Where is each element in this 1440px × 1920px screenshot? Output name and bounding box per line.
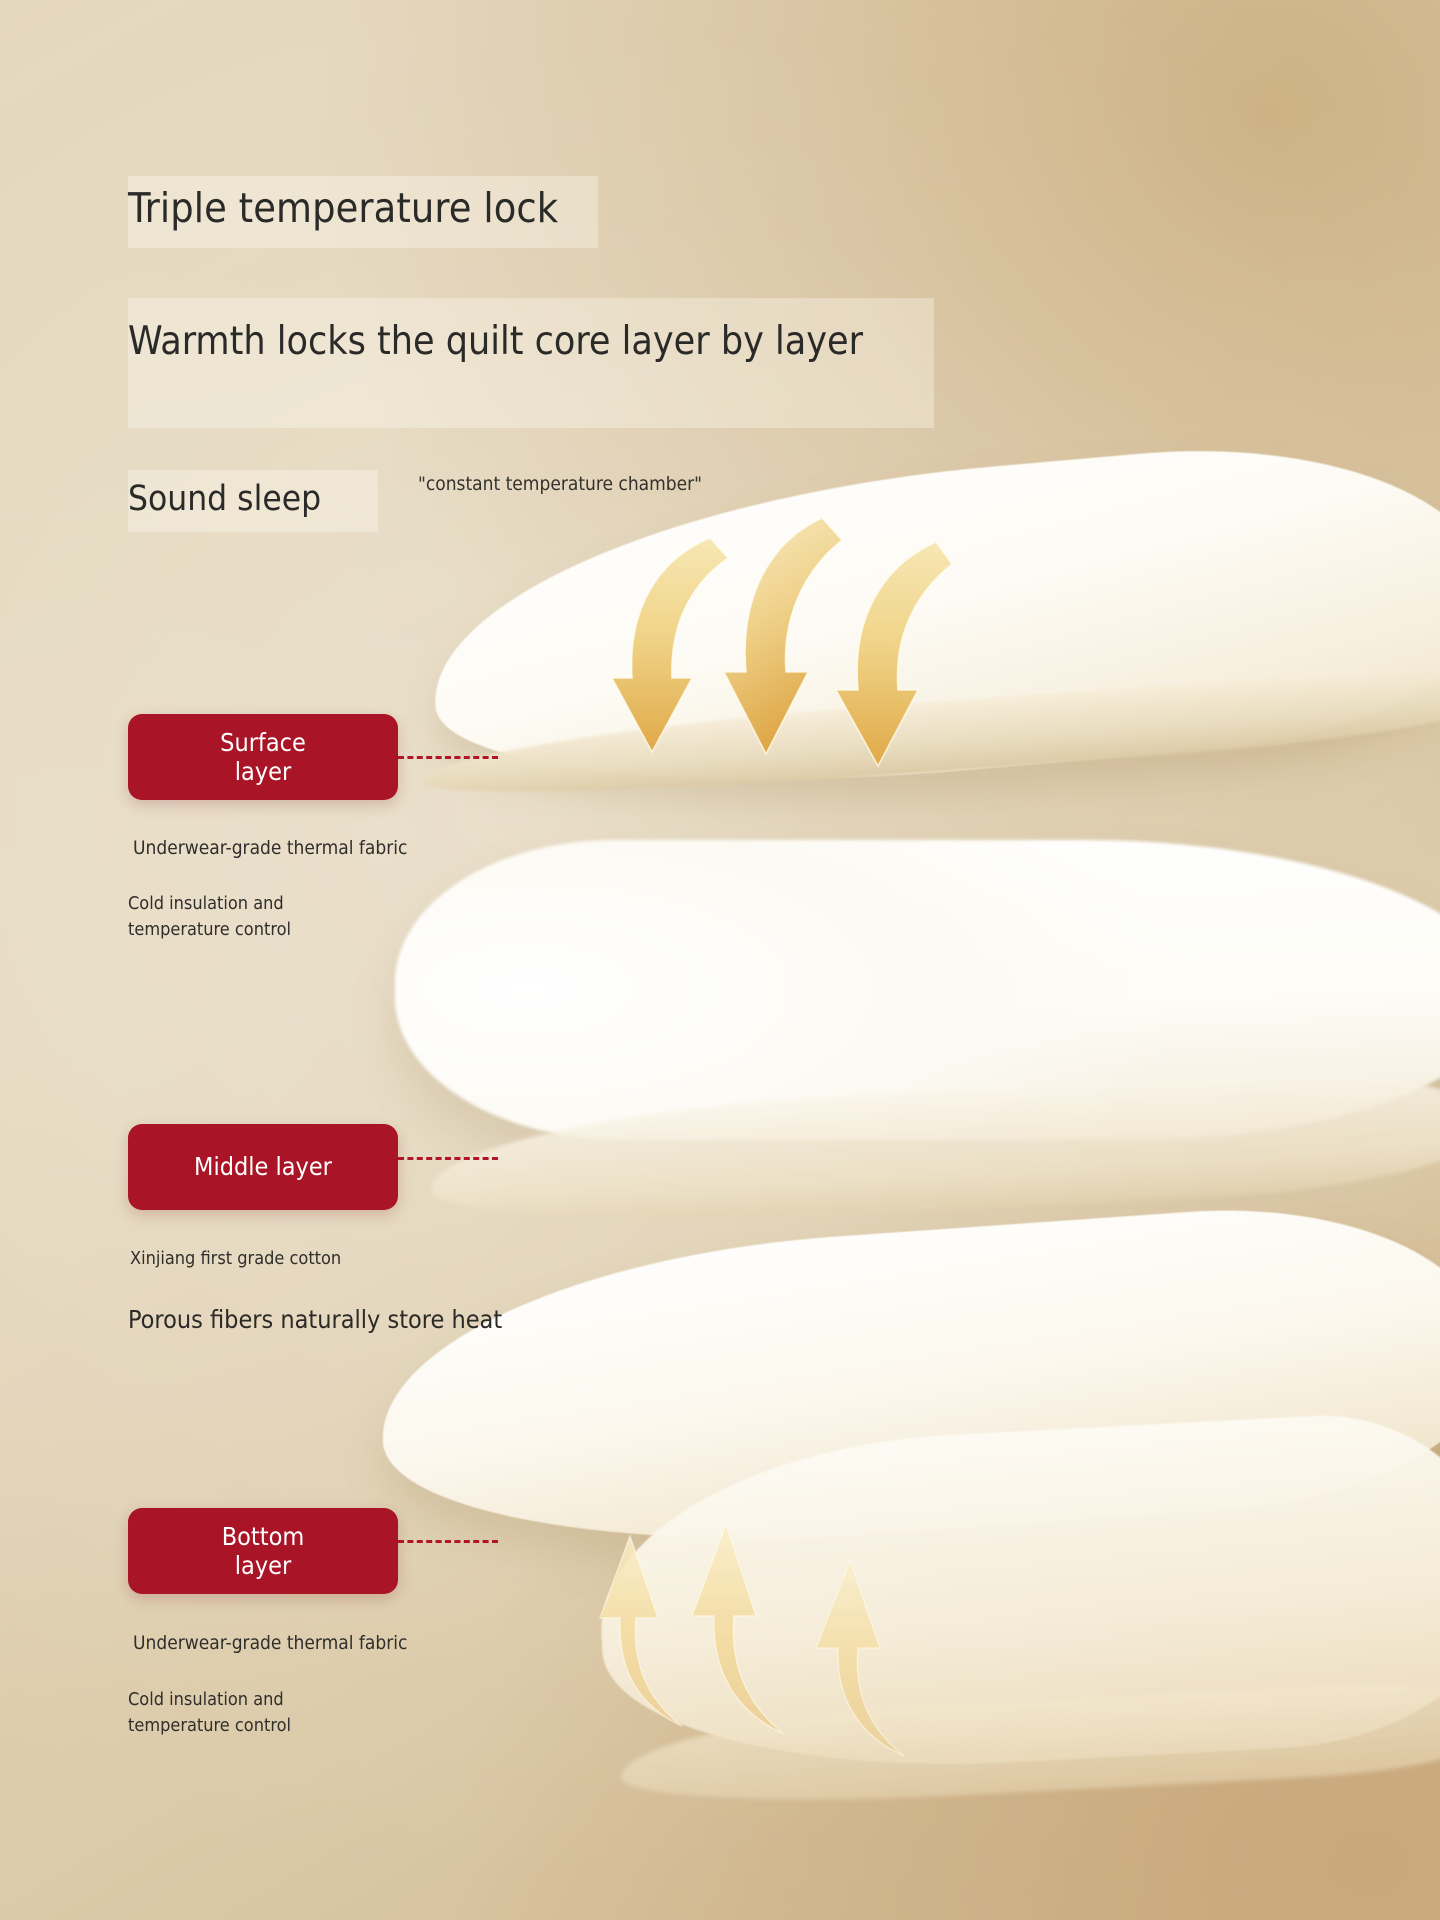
badge-surface-layer-label: Surfacelayer	[220, 728, 306, 787]
bottom-layer-material: Underwear-grade thermal fabric	[133, 1631, 407, 1657]
connector-surface-layer	[398, 756, 498, 759]
middle-layer-benefit: Porous fibers naturally store heat	[128, 1304, 502, 1337]
badge-middle-layer[interactable]: Middle layer	[128, 1124, 398, 1210]
badge-bottom-layer-label: Bottomlayer	[222, 1522, 304, 1581]
page-title: Triple temperature lock	[128, 184, 688, 234]
tagline-note: "constant temperature chamber"	[418, 472, 718, 498]
middle-layer-material: Xinjiang first grade cotton	[130, 1247, 341, 1270]
bottom-layer-benefit-line2: temperature control	[128, 1714, 291, 1737]
tagline: Sound sleep	[128, 478, 321, 520]
bottom-layer-benefit-line1: Cold insulation and	[128, 1688, 284, 1711]
connector-middle-layer	[398, 1157, 498, 1160]
page-subtitle: Warmth locks the quilt core layer by lay…	[128, 318, 958, 366]
badge-middle-layer-label: Middle layer	[194, 1152, 332, 1182]
surface-layer-benefit-line1: Cold insulation and	[128, 892, 284, 915]
surface-layer-benefit-line2: temperature control	[128, 918, 291, 941]
badge-bottom-layer[interactable]: Bottomlayer	[128, 1508, 398, 1594]
badge-surface-layer[interactable]: Surfacelayer	[128, 714, 398, 800]
infographic-stage: Triple temperature lock Warmth locks the…	[0, 0, 1440, 1920]
connector-bottom-layer	[398, 1540, 498, 1543]
surface-layer-material: Underwear-grade thermal fabric	[133, 836, 407, 862]
